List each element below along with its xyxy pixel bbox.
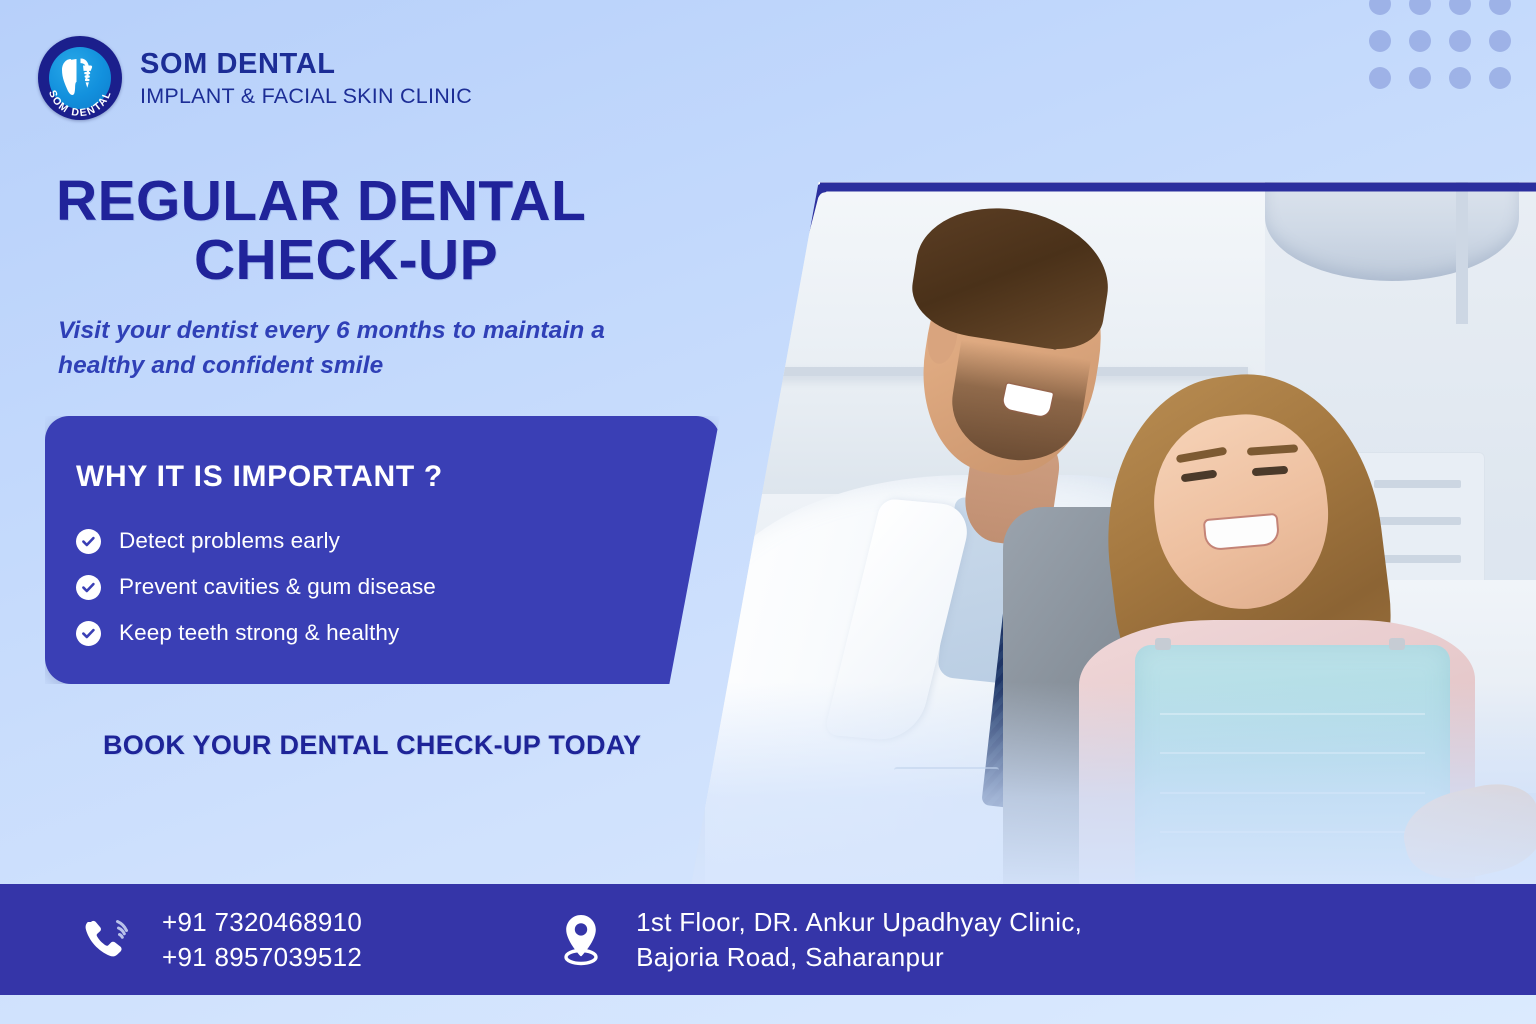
address-contact[interactable]: 1st Floor, DR. Ankur Upadhyay Clinic, Ba…: [552, 905, 1082, 975]
dental-lamp-arm: [1456, 182, 1468, 324]
phone-number-2[interactable]: +91 8957039512: [162, 940, 362, 975]
phone-number-1[interactable]: +91 7320468910: [162, 905, 362, 940]
phone-ringing-icon: [78, 912, 136, 968]
list-item: Prevent cavities & gum disease: [76, 574, 720, 600]
benefit-label: Detect problems early: [119, 528, 340, 554]
brand-name: SOM DENTAL: [140, 50, 472, 79]
headline-line-1: REGULAR DENTAL: [56, 172, 636, 231]
check-circle-icon: [76, 621, 101, 646]
check-circle-icon: [76, 529, 101, 554]
why-important-card: WHY IT IS IMPORTANT ? Detect problems ea…: [45, 416, 720, 684]
card-title: WHY IT IS IMPORTANT ?: [76, 460, 720, 494]
page-title: REGULAR DENTAL CHECK-UP: [56, 172, 636, 289]
contact-footer: +91 7320468910 +91 8957039512 1st Floor,…: [0, 884, 1536, 995]
dental-lamp: [1265, 182, 1519, 281]
photo-bottom-fade: [690, 682, 1536, 892]
location-pin-icon: [552, 912, 610, 968]
dentist-patient-photo: [690, 182, 1536, 892]
list-item: Detect problems early: [76, 528, 720, 554]
benefit-label: Keep teeth strong & healthy: [119, 620, 399, 646]
cta-text: BOOK YOUR DENTAL CHECK-UP TODAY: [103, 730, 641, 761]
address-line-1[interactable]: 1st Floor, DR. Ankur Upadhyay Clinic,: [636, 905, 1082, 940]
check-circle-icon: [76, 575, 101, 600]
tooth-implant-logo-icon: SOM DENTAL: [38, 36, 122, 120]
brand-logo[interactable]: SOM DENTAL SOM DENTAL IMPLANT & FACIAL S…: [38, 36, 472, 120]
dental-checkup-poster: SOM DENTAL SOM DENTAL IMPLANT & FACIAL S…: [0, 0, 1536, 1024]
list-item: Keep teeth strong & healthy: [76, 620, 720, 646]
address-line-2[interactable]: Bajoria Road, Saharanpur: [636, 940, 1082, 975]
headline-line-2: CHECK-UP: [56, 231, 636, 290]
benefits-list: Detect problems early Prevent cavities &…: [76, 528, 720, 646]
benefit-label: Prevent cavities & gum disease: [119, 574, 436, 600]
dot-grid-icon: [1360, 0, 1520, 96]
phone-contact[interactable]: +91 7320468910 +91 8957039512: [78, 905, 362, 975]
subtitle: Visit your dentist every 6 months to mai…: [58, 314, 658, 384]
logo-ring-text: SOM DENTAL: [46, 89, 114, 120]
brand-tagline: IMPLANT & FACIAL SKIN CLINIC: [140, 86, 472, 108]
